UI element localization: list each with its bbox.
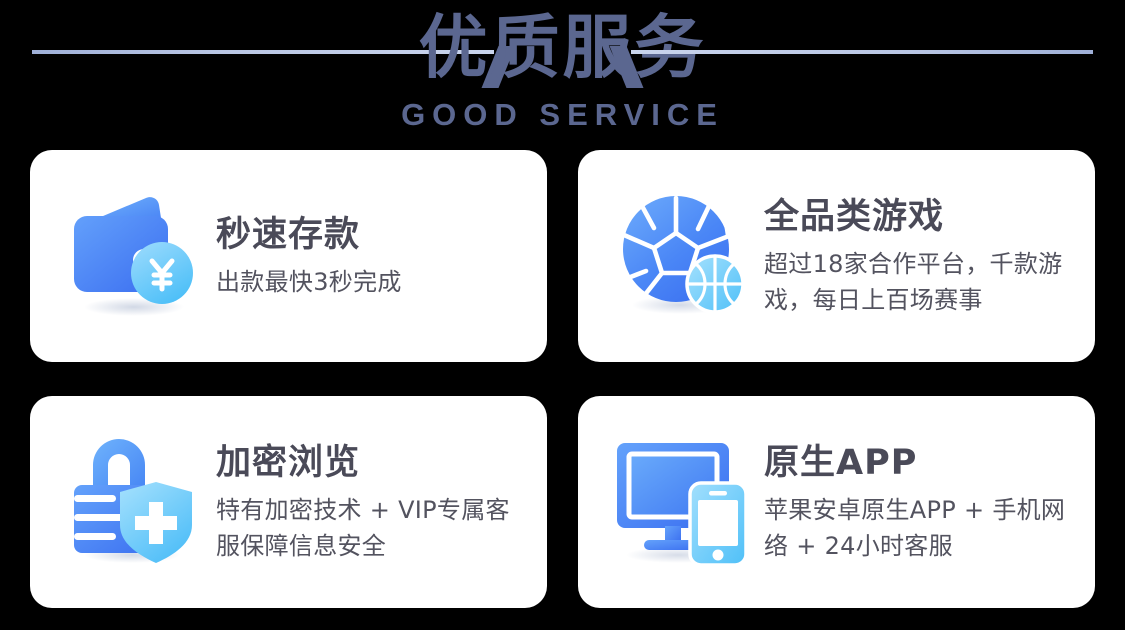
card-description: 出款最快3秒完成 [216, 264, 533, 300]
service-card-deposit[interactable]: 秒速存款 出款最快3秒完成 [30, 150, 547, 362]
card-text-block: 全品类游戏 超过18家合作平台，千款游戏，每日上百场赛事 [758, 195, 1095, 318]
card-title: 秒速存款 [216, 213, 533, 257]
soccer-basketball-icon [608, 181, 758, 331]
good-service-panel: 优质服务 GOOD SERVICE [0, 0, 1125, 630]
card-title: 加密浏览 [216, 441, 533, 485]
monitor-phone-icon [608, 427, 758, 577]
header-rule-right [631, 50, 1093, 54]
card-description: 特有加密技术 + VIP专属客服保障信息安全 [216, 492, 533, 564]
card-text-block: 原生APP 苹果安卓原生APP + 手机网络 + 24小时客服 [758, 441, 1095, 564]
card-title: 原生APP [764, 441, 1081, 485]
page-title: 优质服务 [0, 6, 1125, 90]
wallet-yen-icon [60, 181, 210, 331]
card-title: 全品类游戏 [764, 195, 1081, 239]
service-card-grid: 秒速存款 出款最快3秒完成 [30, 150, 1095, 608]
card-text-block: 秒速存款 出款最快3秒完成 [210, 213, 547, 300]
card-description: 超过18家合作平台，千款游戏，每日上百场赛事 [764, 246, 1081, 318]
service-card-encryption[interactable]: 加密浏览 特有加密技术 + VIP专属客服保障信息安全 [30, 396, 547, 608]
page-subtitle: GOOD SERVICE [0, 96, 1125, 134]
section-header: 优质服务 GOOD SERVICE [0, 0, 1125, 145]
lock-shield-icon [60, 427, 210, 577]
card-text-block: 加密浏览 特有加密技术 + VIP专属客服保障信息安全 [210, 441, 547, 564]
service-card-games[interactable]: 全品类游戏 超过18家合作平台，千款游戏，每日上百场赛事 [578, 150, 1095, 362]
card-description: 苹果安卓原生APP + 手机网络 + 24小时客服 [764, 492, 1081, 564]
service-card-native-app[interactable]: 原生APP 苹果安卓原生APP + 手机网络 + 24小时客服 [578, 396, 1095, 608]
